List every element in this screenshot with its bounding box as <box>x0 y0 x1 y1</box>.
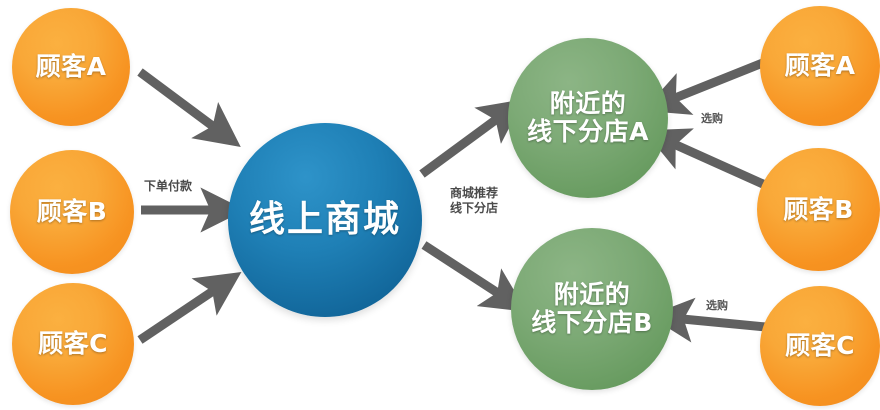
arrow-customer-a-right-to-store-a <box>665 62 765 102</box>
arrow-customer-c-left-to-mall <box>140 285 222 340</box>
node-label: 顾客A <box>36 53 107 81</box>
node-label: 线上商城 <box>249 200 401 240</box>
arrow-mall-to-store-a <box>422 113 505 174</box>
node-store-b[interactable]: 附近的 线下分店B <box>511 228 673 390</box>
node-customer-a-left[interactable]: 顾客A <box>12 8 130 126</box>
diagram-canvas: 顾客A 顾客B 顾客C 线上商城 附近的 线下分店A 附近的 线下分店B 顾客A… <box>0 0 880 410</box>
node-label: 附近的 线下分店B <box>531 281 653 337</box>
edge-label-purchase-store-a: 选购 <box>701 112 723 126</box>
node-customer-c-right[interactable]: 顾客C <box>760 286 880 406</box>
node-customer-c-left[interactable]: 顾客C <box>12 283 134 405</box>
node-online-mall[interactable]: 线上商城 <box>228 123 422 317</box>
node-store-a[interactable]: 附近的 线下分店A <box>508 38 668 198</box>
node-label: 顾客C <box>785 332 855 360</box>
node-label: 顾客C <box>38 330 108 358</box>
arrow-customer-c-right-to-store-b <box>672 318 766 327</box>
node-label: 顾客B <box>37 198 108 226</box>
node-customer-b-right[interactable]: 顾客B <box>757 148 880 271</box>
edge-label-order-payment: 下单付款 <box>144 179 192 194</box>
arrow-mall-to-store-b <box>424 245 507 299</box>
node-label: 顾客A <box>785 52 856 80</box>
node-label: 顾客B <box>783 196 854 224</box>
edge-label-mall-recommend: 商城推荐 线下分店 <box>450 186 498 216</box>
arrow-customer-a-left-to-mall <box>140 72 222 133</box>
edge-label-purchase-store-b: 选购 <box>706 299 728 313</box>
node-customer-a-right[interactable]: 顾客A <box>760 6 880 126</box>
node-customer-b-left[interactable]: 顾客B <box>10 150 134 274</box>
node-label: 附近的 线下分店A <box>527 90 649 146</box>
arrow-customer-b-right-to-store-a <box>665 140 763 184</box>
